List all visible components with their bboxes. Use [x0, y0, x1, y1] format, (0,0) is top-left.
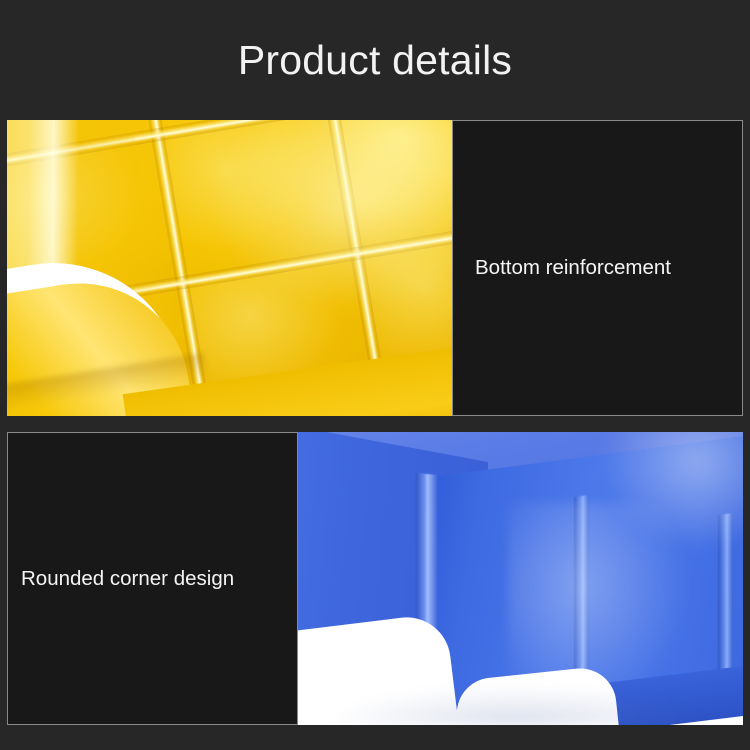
caption-text: Rounded corner design — [8, 566, 234, 592]
image-blue-crate-corner — [298, 432, 743, 725]
blue-crate-contact-shadow — [328, 685, 708, 725]
caption-text: Bottom reinforcement — [453, 255, 671, 281]
panel-rounded-corner-design: Rounded corner design — [7, 432, 743, 725]
yellow-crate-illustration — [7, 120, 452, 416]
yellow-crate-gloss — [207, 120, 452, 310]
product-details-page: Product details — [0, 0, 750, 750]
image-yellow-crate-bottom — [7, 120, 452, 416]
page-title: Product details — [0, 36, 750, 84]
panel-bottom-reinforcement: Bottom reinforcement — [7, 120, 743, 416]
caption-bottom-reinforcement: Bottom reinforcement — [452, 120, 743, 416]
caption-rounded-corner-design: Rounded corner design — [7, 432, 298, 725]
blue-crate-illustration — [298, 432, 743, 725]
